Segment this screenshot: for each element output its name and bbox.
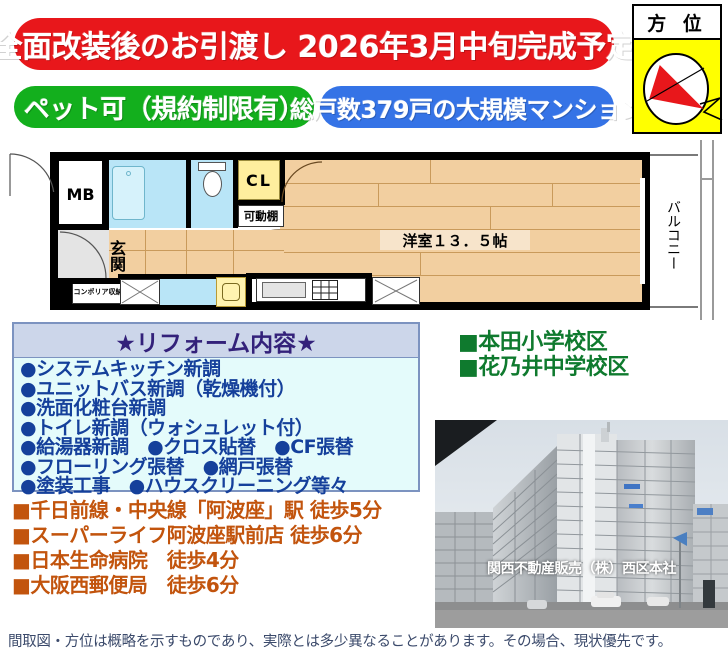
disclaimer-text: 間取図・方位は概略を示すものであり、実際とは多少異なることがあります。その場合、… bbox=[8, 630, 724, 651]
floorplan-plank-seam bbox=[552, 183, 553, 206]
floorplan-door-swing-icon bbox=[280, 160, 324, 204]
building-photo-image bbox=[435, 420, 728, 628]
floorplan-entry-door-swing-icon bbox=[8, 152, 56, 198]
banner-area: 全面改装後のお引渡し 2026年3月中旬完成予定 ペット可（規約制限有） 総戸数… bbox=[0, 0, 628, 138]
floorplan-wall-seg bbox=[50, 278, 72, 310]
floorplan-plank-seam bbox=[430, 160, 431, 183]
floorplan-plank-line bbox=[280, 206, 642, 207]
access-info-list: ■千日前線・中央線「阿波座」駅 徒歩5分 ■スーパーライフ阿波座駅前店 徒歩6分… bbox=[12, 498, 432, 598]
reform-item-list: ●システムキッチン新調 ●ユニットバス新調（乾燥機付） ●洗面化粧台新調 ●トイ… bbox=[14, 358, 418, 497]
photo-caption: 関西不動産販売（株）西区本社 bbox=[435, 558, 728, 578]
floorplan-plank-seam bbox=[233, 230, 234, 278]
floorplan-entrance-label: 玄関 bbox=[105, 232, 127, 280]
floorplan-movable-shelf-label: 可動棚 bbox=[238, 205, 284, 227]
school-item: ■本田小学校区 bbox=[458, 330, 728, 355]
banner-total-units-pill: 総戸数379戸の大規模マンション bbox=[320, 86, 614, 128]
floorplan-burner-grid-icon bbox=[312, 280, 338, 300]
floorplan-balcony-rail bbox=[700, 140, 702, 320]
building-photo: 関西不動産販売（株）西区本社 bbox=[435, 420, 728, 628]
reform-item: ●給湯器新調 ●クロス貼替 ●CF張替 bbox=[20, 438, 414, 458]
floorplan-toilet-bowl bbox=[203, 171, 222, 197]
floorplan-wall-top bbox=[50, 152, 650, 160]
floorplan-closet-label: CL bbox=[238, 160, 280, 200]
access-item: ■スーパーライフ阿波座駅前店 徒歩6分 bbox=[12, 523, 432, 548]
banner-renovation-pill: 全面改装後のお引渡し 2026年3月中旬完成予定 bbox=[14, 18, 614, 70]
floorplan-closet-cross-icon bbox=[372, 277, 420, 305]
school-item: ■花乃井中学校区 bbox=[458, 355, 728, 380]
floorplan-mb-label: MB bbox=[58, 168, 103, 220]
school-district-list: ■本田小学校区 ■花乃井中学校区 bbox=[458, 330, 728, 380]
floorplan-burner-icon bbox=[222, 283, 240, 301]
floorplan-plank-line bbox=[280, 252, 642, 253]
floorplan-balcony-rail bbox=[650, 154, 698, 156]
floorplan-wall-seg bbox=[50, 192, 58, 198]
floorplan-hallway bbox=[109, 230, 284, 278]
floorplan-balcony-rail bbox=[712, 140, 714, 320]
floorplan-plank-seam bbox=[186, 230, 187, 278]
floorplan-balcony-label: バルコニー bbox=[662, 185, 684, 285]
reform-item: ●システムキッチン新調 bbox=[20, 360, 414, 380]
floorplan-plank-seam bbox=[490, 206, 491, 229]
compass-box: 方 位 bbox=[632, 4, 722, 134]
floorplan-washbasin-cross-icon bbox=[120, 279, 160, 305]
reform-content-box: ★リフォーム内容★ ●システムキッチン新調 ●ユニットバス新調（乾燥機付） ●洗… bbox=[12, 322, 420, 492]
reform-header: ★リフォーム内容★ bbox=[14, 324, 418, 358]
floorplan-kitchen-sink bbox=[262, 282, 306, 298]
access-item: ■大阪西郵便局 徒歩6分 bbox=[12, 573, 432, 598]
floorplan-plank-seam bbox=[145, 230, 146, 278]
floorplan-entrance-door-swing-icon bbox=[58, 230, 108, 280]
floorplan-plank-seam bbox=[420, 252, 421, 275]
floorplan-balcony-rail bbox=[700, 178, 714, 180]
floorplan-balcony-rail bbox=[650, 306, 698, 308]
access-item: ■日本生命病院 徒歩4分 bbox=[12, 548, 432, 573]
reform-item: ●洗面化粧台新調 bbox=[20, 399, 414, 419]
floorplan-bathtub-drain-icon bbox=[126, 171, 131, 176]
banner-pet-allowed-pill: ペット可（規約制限有） bbox=[14, 86, 314, 128]
floorplan-wall-seg bbox=[246, 273, 252, 307]
floorplan-toilet-tank bbox=[198, 162, 226, 171]
floorplan-plank-line bbox=[280, 183, 642, 184]
floorplan-diagram: 洋室１３．５帖 MB CL 可動棚 玄関 コンポリア収納 bbox=[0, 140, 728, 320]
floorplan-main-room-label: 洋室１３．５帖 bbox=[380, 230, 530, 250]
compass-rose-icon bbox=[640, 46, 724, 132]
reform-item: ●塗装工事 ●ハウスクリーニング等々 bbox=[20, 477, 414, 497]
floorplan-plank-seam bbox=[378, 183, 379, 206]
compass-title: 方 位 bbox=[634, 6, 720, 40]
floorplan-plank-line bbox=[109, 250, 284, 251]
access-item: ■千日前線・中央線「阿波座」駅 徒歩5分 bbox=[12, 498, 432, 523]
floorplan-sink-counter bbox=[160, 279, 216, 305]
floorplan-window bbox=[640, 178, 645, 284]
